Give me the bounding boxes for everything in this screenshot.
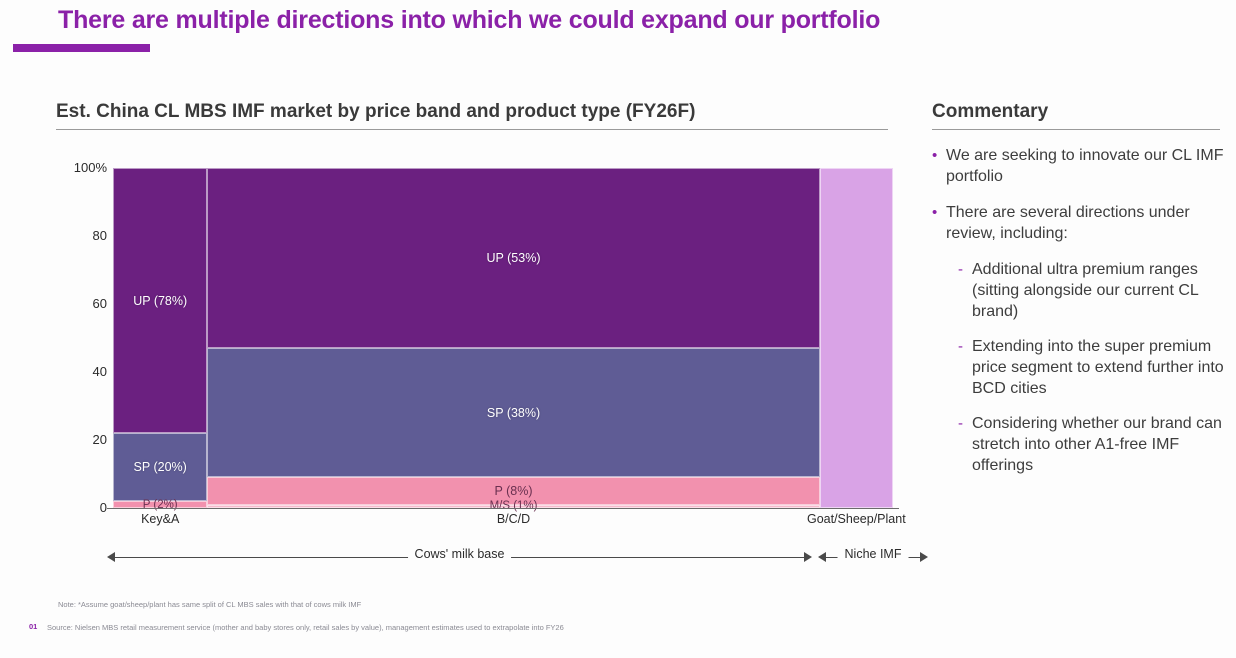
- chart-segment-sp[interactable]: SP (38%): [207, 348, 819, 477]
- bullet-dash-icon: -: [958, 336, 972, 399]
- commentary-sub-bullet: - Additional ultra premium ranges (sitti…: [932, 259, 1224, 322]
- y-axis-tick: 0: [57, 500, 107, 515]
- chart-segment-label: UP (78%): [133, 294, 187, 308]
- bullet-dot-icon: •: [932, 145, 946, 187]
- chart-segment-label: M/S (1%): [490, 500, 538, 512]
- bullet-dash-icon: -: [958, 259, 972, 322]
- y-axis-tick: 100%: [57, 160, 107, 175]
- arrow-left-icon: [107, 552, 115, 562]
- range-cows-milk-base: Cows' milk base: [107, 548, 812, 566]
- commentary-divider: [932, 129, 1220, 130]
- commentary-bullet-text: There are several directions under revie…: [946, 202, 1224, 244]
- commentary-list: • We are seeking to innovate our CL IMF …: [932, 145, 1224, 490]
- arrow-right-icon: [804, 552, 812, 562]
- chart-segment-label: P (8%): [495, 484, 533, 498]
- range-niche-imf: Niche IMF: [818, 548, 928, 566]
- y-axis-tick: 60: [57, 296, 107, 311]
- range-label: Cows' milk base: [408, 547, 512, 561]
- commentary-bullet-text: We are seeking to innovate our CL IMF po…: [946, 145, 1224, 187]
- commentary-sub-bullet-text: Considering whether our brand can stretc…: [972, 413, 1224, 476]
- chart-column-key-a[interactable]: UP (78%)SP (20%)P (2%): [113, 168, 207, 508]
- x-axis-line: [107, 508, 899, 509]
- footnote-source: Source: Nielsen MBS retail measurement s…: [47, 623, 564, 632]
- chart-column-b-c-d[interactable]: UP (53%)SP (38%)P (8%)M/S (1%): [207, 168, 819, 508]
- range-label: Niche IMF: [838, 547, 909, 561]
- chart-segment-niche[interactable]: [820, 168, 893, 508]
- arrow-right-icon: [920, 552, 928, 562]
- footnote-source-marker: 01: [29, 622, 37, 631]
- chart-segment-label: SP (20%): [134, 460, 187, 474]
- commentary-sub-bullet-text: Extending into the super premium price s…: [972, 336, 1224, 399]
- commentary-sub-bullet: - Extending into the super premium price…: [932, 336, 1224, 399]
- x-axis-label-b-c-d: B/C/D: [497, 512, 530, 526]
- chart-segment-up[interactable]: UP (78%): [113, 168, 207, 433]
- chart-column-goat-sheep-plant[interactable]: [820, 168, 893, 508]
- commentary-sub-bullet: - Considering whether our brand can stre…: [932, 413, 1224, 476]
- plot-area: UP (78%)SP (20%)P (2%)UP (53%)SP (38%)P …: [113, 168, 893, 508]
- footnote-note: Note: *Assume goat/sheep/plant has same …: [58, 600, 361, 609]
- y-axis: 020406080100%: [55, 0, 107, 658]
- arrow-left-icon: [818, 552, 826, 562]
- y-axis-tick: 80: [57, 228, 107, 243]
- y-axis-tick: 40: [57, 364, 107, 379]
- chart-segment-label: UP (53%): [487, 251, 541, 265]
- commentary-bullet: • There are several directions under rev…: [932, 202, 1224, 244]
- x-axis-label-key-a: Key&A: [141, 512, 179, 526]
- bullet-dash-icon: -: [958, 413, 972, 476]
- commentary-bullet: • We are seeking to innovate our CL IMF …: [932, 145, 1224, 187]
- chart-segment-up[interactable]: UP (53%): [207, 168, 819, 348]
- chart-segment-label: SP (38%): [487, 406, 540, 420]
- chart-segment-sp[interactable]: SP (20%): [113, 433, 207, 501]
- y-axis-tick: 20: [57, 432, 107, 447]
- bullet-dot-icon: •: [932, 202, 946, 244]
- x-axis-label-goat-sheep-plant: Goat/Sheep/Plant: [807, 512, 906, 526]
- chart-segment-p[interactable]: P (2%): [113, 501, 207, 508]
- commentary-sub-bullet-text: Additional ultra premium ranges (sitting…: [972, 259, 1224, 322]
- commentary-heading: Commentary: [932, 101, 1048, 123]
